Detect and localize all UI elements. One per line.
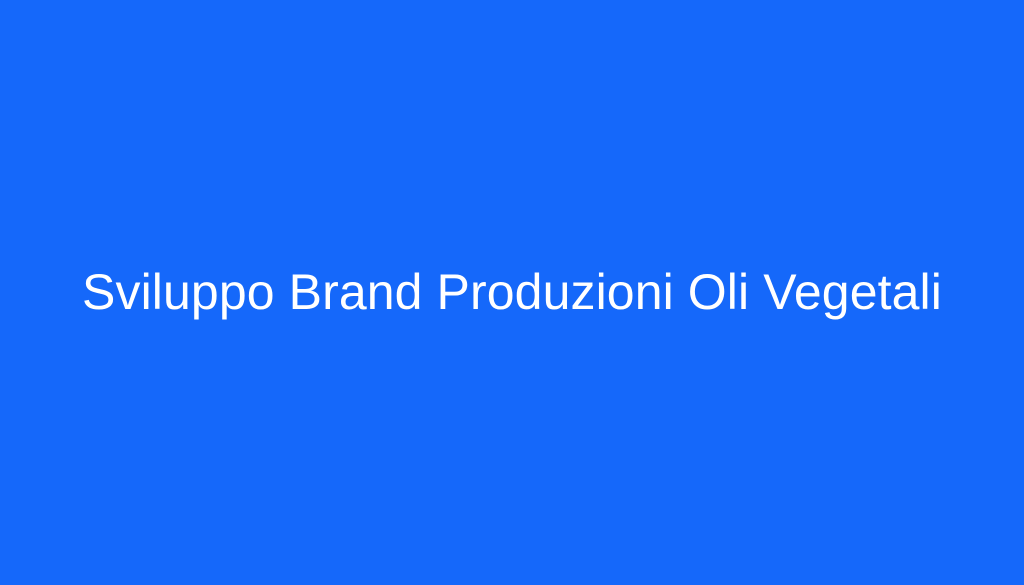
page-title: Sviluppo Brand Produzioni Oli Vegetali xyxy=(48,263,976,322)
title-banner-content: Sviluppo Brand Produzioni Oli Vegetali xyxy=(48,263,976,322)
title-banner: Sviluppo Brand Produzioni Oli Vegetali xyxy=(0,0,1024,585)
